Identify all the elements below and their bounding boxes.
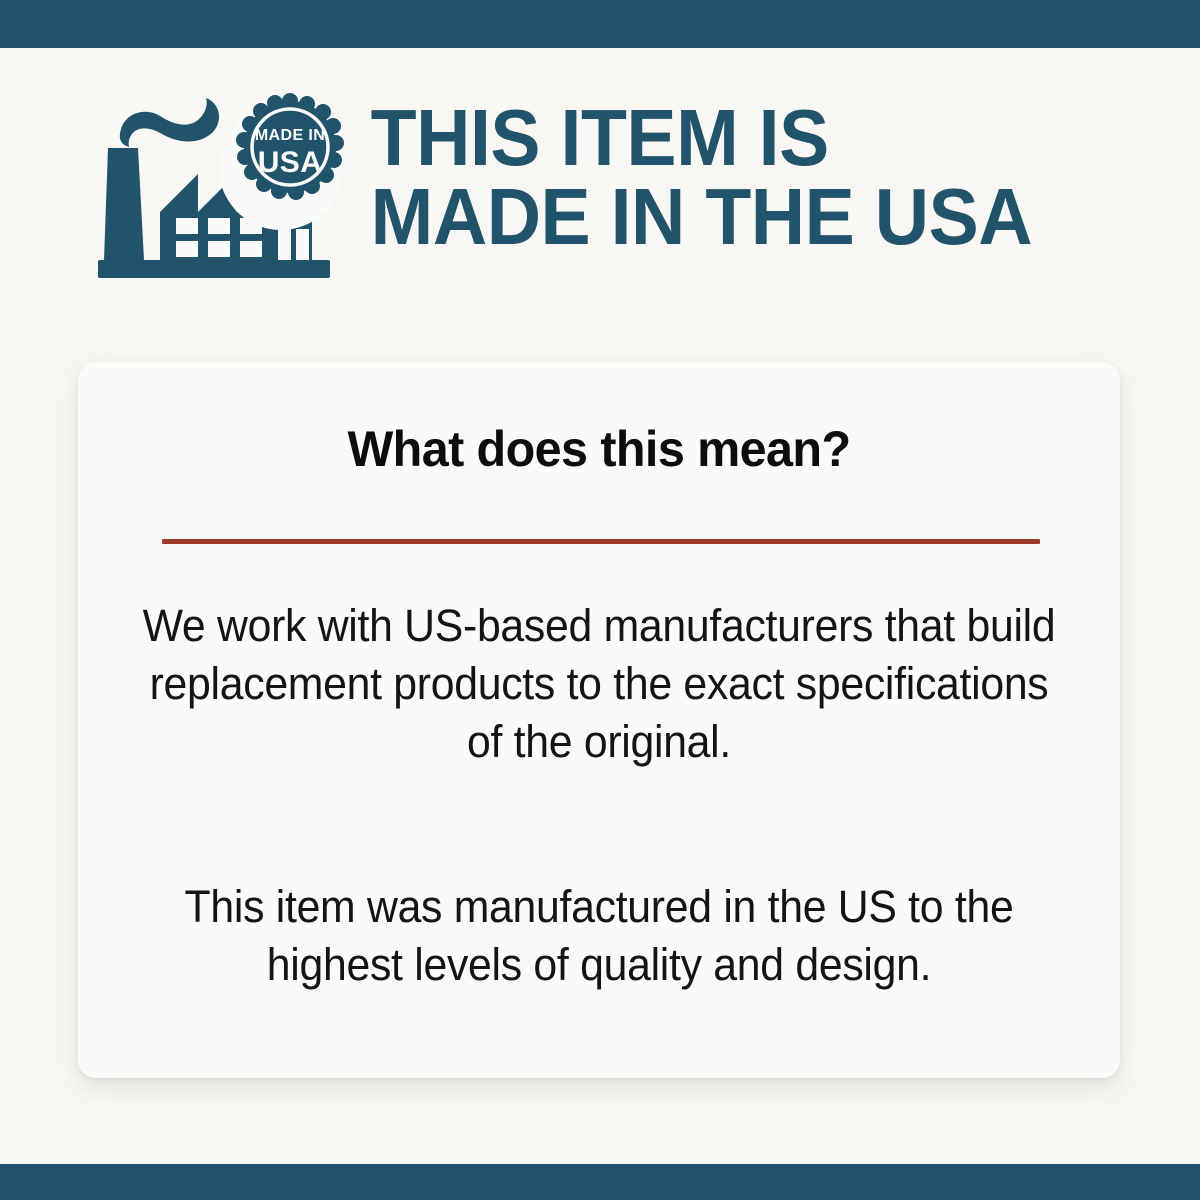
bottom-accent-band (0, 1164, 1200, 1200)
header-section: MADE IN USA THIS ITEM IS MADE IN THE USA (98, 92, 1158, 292)
headline-line-2: MADE IN THE USA (371, 177, 1110, 256)
factory-icon: MADE IN USA (98, 92, 350, 282)
svg-text:MADE IN: MADE IN (255, 127, 325, 144)
top-accent-band (0, 0, 1200, 48)
card-divider (162, 539, 1040, 544)
explanation-card: What does this mean? We work with US-bas… (78, 362, 1120, 1078)
card-paragraph-1: We work with US-based manufacturers that… (142, 597, 1056, 771)
made-in-usa-seal-icon: MADE IN USA (219, 93, 344, 230)
card-paragraph-2: This item was manufactured in the US to … (142, 878, 1056, 994)
headline-line-1: THIS ITEM IS (371, 98, 1110, 177)
card-heading: What does this mean? (94, 420, 1105, 478)
made-in-usa-panel: MADE IN USA THIS ITEM IS MADE IN THE USA… (0, 0, 1200, 1200)
page-title: THIS ITEM IS MADE IN THE USA (350, 92, 1110, 256)
svg-text:USA: USA (258, 146, 323, 179)
factory-logo: MADE IN USA (98, 92, 350, 282)
